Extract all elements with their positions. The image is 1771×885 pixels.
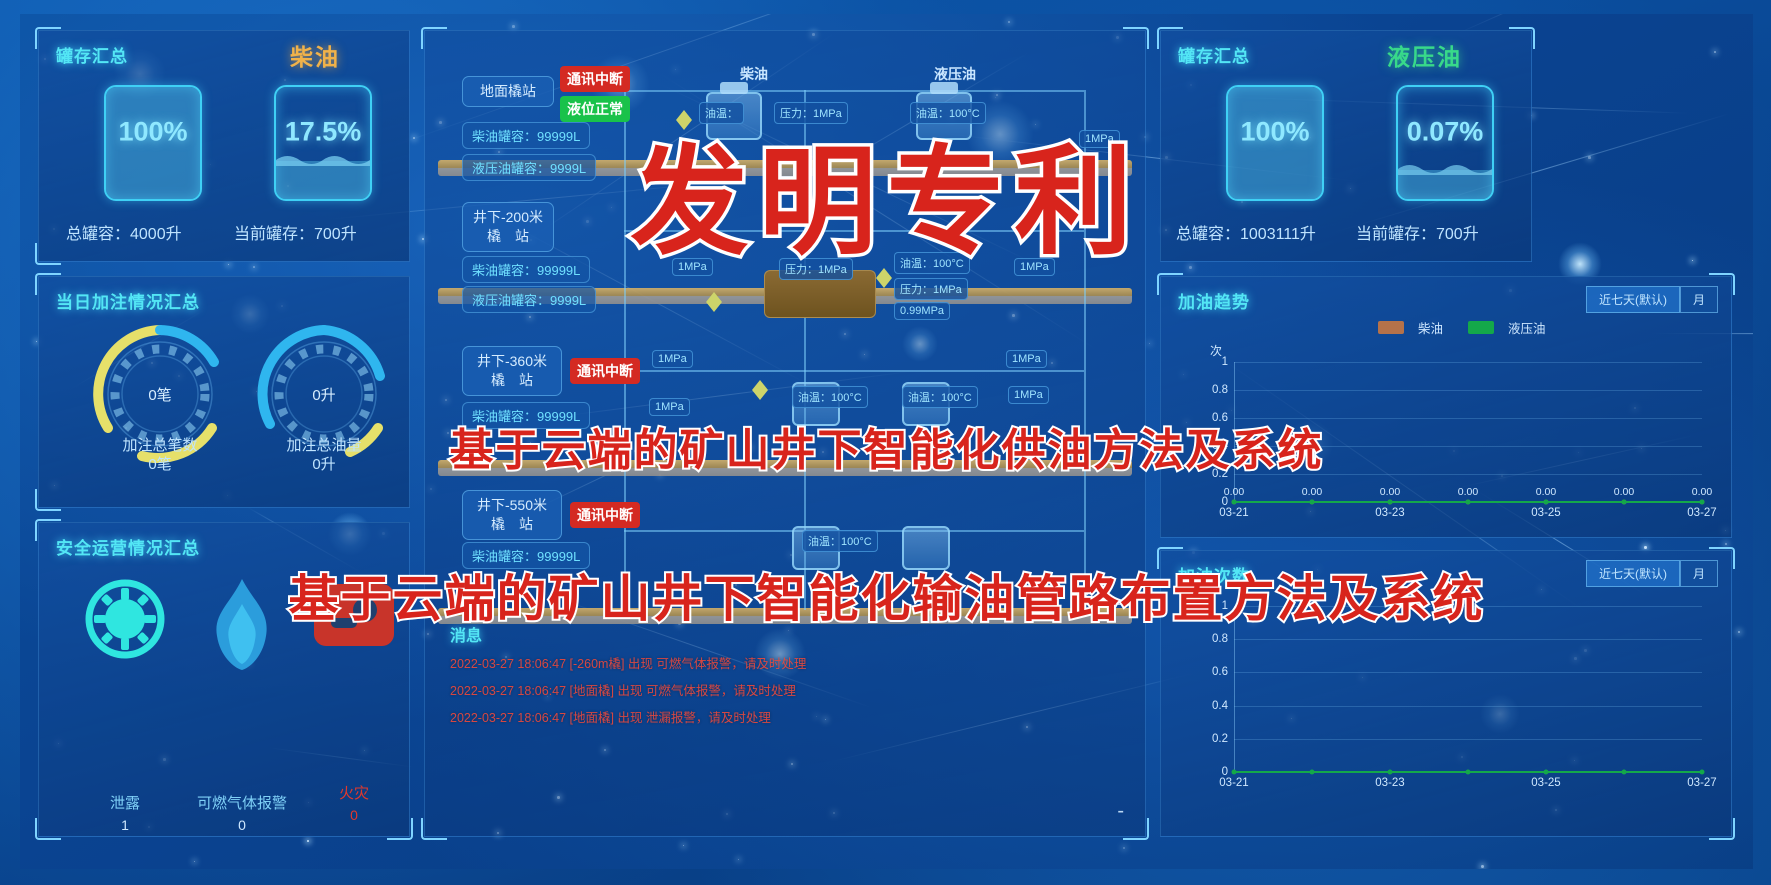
vessel-cap [930, 82, 958, 94]
tag-temp-6: 油温：100°C [802, 530, 878, 552]
tag-pressure-11: 1MPa [1008, 386, 1049, 404]
corner-decor [35, 489, 61, 511]
panel-title: 安全运营情况汇总 [56, 534, 200, 559]
safety-value-fire: 0 [306, 807, 402, 823]
count-tab-month[interactable]: 月 [1680, 560, 1718, 587]
data-point-label: 0.00 [1224, 486, 1244, 498]
trend-y-unit: 次 [1210, 342, 1222, 359]
safety-label-leak: 泄露 [66, 792, 184, 813]
diesel-current-tank: 17.5% [274, 85, 372, 201]
message-line: 2022-03-27 18:06:47 [-260m橇] 出现 可燃气体报警，请… [450, 653, 806, 672]
x-axis-tick: 03-21 [1219, 507, 1248, 519]
panel-title: 当日加注情况汇总 [56, 288, 200, 313]
station-360m-name-l2: 橇 站 [472, 371, 552, 390]
station-550m-badge-comm: 通讯中断 [570, 502, 640, 528]
data-point-label: 0.00 [1380, 486, 1400, 498]
refuel-volume-label-l2: 0升 [254, 455, 394, 474]
tag-temp-4: 油温：100°C [792, 386, 868, 408]
panel-title: 加油趋势 [1178, 288, 1250, 313]
right-tank-summary-panel: 罐存汇总 液压油 100% 总罐容：1003111升 0.07% 当前罐存：70… [1160, 30, 1532, 262]
station-550m-name-l1: 井下-550米 [472, 496, 552, 515]
station-surface-cap-hyd: 液压油罐容：9999L [462, 154, 596, 181]
count-range-tabs[interactable]: 近七天(默认) 月 [1586, 560, 1718, 587]
diesel-current-caption: 当前罐存：700升 [234, 220, 357, 244]
refuel-count-label-l2: 0笔 [90, 455, 230, 474]
data-point-label: 0.00 [1302, 486, 1322, 498]
x-axis-tick: 03-21 [1219, 777, 1248, 789]
station-360m[interactable]: 井下-360米 橇 站 [462, 346, 562, 396]
flow-label-diesel: 柴油 [740, 64, 768, 84]
station-550m[interactable]: 井下-550米 橇 站 [462, 490, 562, 540]
refuel-volume-label: 加注总油量 0升 [254, 436, 394, 474]
trend-tab-7days[interactable]: 近七天(默认) [1586, 286, 1680, 313]
y-axis-tick: 0.8 [1212, 633, 1228, 645]
station-200m[interactable]: 井下-200米 橇 站 [462, 202, 554, 252]
corner-decor [1509, 27, 1535, 49]
refuel-count-label: 加注总笔数 0笔 [90, 436, 230, 474]
x-axis-tick: 03-27 [1687, 777, 1716, 789]
y-axis-tick: 0.6 [1212, 666, 1228, 678]
left-today-refuel-panel: 当日加注情况汇总 0笔 加注总笔数 0笔 [38, 276, 410, 508]
tag-pressure-9: 1MPa [1006, 350, 1047, 368]
tag-pressure-6: 0.99MPa [894, 302, 950, 320]
diesel-current-percent: 17.5% [276, 116, 370, 147]
watermark-main: 发明专利 [630, 106, 1142, 277]
station-200m-cap-hyd: 液压油罐容：9999L [462, 286, 596, 313]
left-tank-summary-panel: 罐存汇总 柴油 100% 总罐容：4000升 17.5% 当前罐存：700升 [38, 30, 410, 262]
station-surface-badge-comm: 通讯中断 [560, 66, 630, 92]
station-surface-cap-diesel: 柴油罐容：99999L [462, 122, 590, 149]
station-surface-badge-level: 液位正常 [560, 96, 630, 122]
y-axis-tick: 0.8 [1212, 384, 1228, 396]
corner-decor [1123, 818, 1149, 840]
pipe-top [624, 90, 1084, 92]
trend-range-tabs[interactable]: 近七天(默认) 月 [1586, 286, 1718, 313]
legend-swatch-hydraulic [1468, 321, 1494, 334]
station-200m-cap-diesel: 柴油罐容：99999L [462, 256, 590, 283]
data-point-label: 0.00 [1536, 486, 1556, 498]
station-360m-badge-comm: 通讯中断 [570, 358, 640, 384]
x-axis-tick: 03-23 [1375, 507, 1404, 519]
flame-icon [200, 574, 284, 674]
corner-decor [1709, 818, 1735, 840]
panel-title: 罐存汇总 [56, 42, 128, 67]
refuel-volume-label-l1: 加注总油量 [254, 436, 394, 455]
x-axis-tick: 03-25 [1531, 507, 1560, 519]
safety-item-leak: 泄露 1 [66, 574, 184, 833]
app-frame: 罐存汇总 柴油 100% 总罐容：4000升 17.5% 当前罐存：700升 [0, 0, 1771, 885]
corner-decor [421, 27, 447, 49]
station-200m-name-l1: 井下-200米 [472, 208, 544, 227]
trend-tab-month[interactable]: 月 [1680, 286, 1718, 313]
y-axis-tick: 0.2 [1212, 733, 1228, 745]
diesel-total-tank: 100% [104, 85, 202, 201]
tag-temp-5: 油温：100°C [902, 386, 978, 408]
diesel-total-caption: 总罐容：4000升 [66, 220, 182, 244]
gear-ring-icon [80, 574, 170, 664]
message-line: 2022-03-27 18:06:47 [地面橇] 出现 可燃气体报警，请及时处… [450, 680, 796, 699]
safety-label-fire: 火灾 [306, 782, 402, 803]
x-axis-tick: 03-27 [1687, 507, 1716, 519]
dashboard-stage: 罐存汇总 柴油 100% 总罐容：4000升 17.5% 当前罐存：700升 [20, 14, 1753, 869]
x-axis-tick: 03-23 [1375, 777, 1404, 789]
y-axis-tick: 1 [1222, 356, 1228, 368]
corner-decor [1123, 27, 1149, 49]
legend-swatch-diesel [1378, 321, 1404, 334]
x-axis-tick: 03-25 [1531, 777, 1560, 789]
tag-pressure-5: 压力：1MPa [894, 278, 968, 300]
panel-subtitle-hydraulic: 液压油 [1387, 38, 1462, 72]
tag-pressure-8: 1MPa [652, 350, 693, 368]
station-surface[interactable]: 地面橇站 [462, 76, 554, 107]
data-point-label: 0.00 [1458, 486, 1478, 498]
data-point-label: 0.00 [1692, 486, 1712, 498]
count-tab-7days[interactable]: 近七天(默认) [1586, 560, 1680, 587]
pipe-mid2 [624, 370, 1084, 372]
hydraulic-total-caption: 总罐容：1003111升 [1176, 220, 1316, 244]
panel-subtitle-diesel: 柴油 [290, 38, 340, 72]
watermark-line2: 基于云端的矿山井下智能化输油管路布置方法及系统 [289, 559, 1485, 631]
trend-legend: 柴油 液压油 [1378, 318, 1546, 337]
safety-value-gas: 0 [172, 817, 312, 833]
corner-decor [35, 818, 61, 840]
flow-label-hydraulic: 液压油 [934, 64, 976, 84]
diesel-total-percent: 100% [106, 116, 200, 147]
message-line: 2022-03-27 18:06:47 [地面橇] 出现 泄漏报警，请及时处理 [450, 707, 771, 726]
station-360m-name-l1: 井下-360米 [472, 352, 552, 371]
hydraulic-current-caption: 当前罐存：700升 [1356, 220, 1479, 244]
station-surface-name: 地面橇站 [472, 82, 544, 101]
hydraulic-total-percent: 100% [1228, 116, 1322, 147]
data-point-label: 0.00 [1614, 486, 1634, 498]
refuel-count-label-l1: 加注总笔数 [90, 436, 230, 455]
panel-title: 罐存汇总 [1178, 42, 1250, 67]
safety-value-leak: 1 [66, 817, 184, 833]
corner-decor [421, 818, 447, 840]
hydraulic-total-tank: 100% [1226, 85, 1324, 201]
pipe-main-left [624, 90, 626, 610]
watermark-line1: 基于云端的矿山井下智能化供油方法及系统 [450, 414, 1324, 478]
zoom-out-button[interactable]: - [1117, 800, 1124, 823]
legend-label-diesel: 柴油 [1418, 318, 1443, 337]
y-axis-tick: 0.4 [1212, 700, 1228, 712]
hydraulic-current-tank: 0.07% [1396, 85, 1494, 201]
station-200m-name-l2: 橇 站 [472, 227, 544, 246]
station-550m-name-l2: 橇 站 [472, 515, 552, 534]
hydraulic-current-percent: 0.07% [1398, 116, 1492, 147]
corner-decor [35, 243, 61, 265]
safety-label-gas: 可燃气体报警 [172, 792, 312, 813]
legend-label-hydraulic: 液压油 [1508, 318, 1546, 337]
refuel-trend-panel: 加油趋势 近七天(默认) 月 柴油 液压油 次 00.20.40.60.8103… [1160, 276, 1732, 538]
vessel-cap [720, 82, 748, 94]
